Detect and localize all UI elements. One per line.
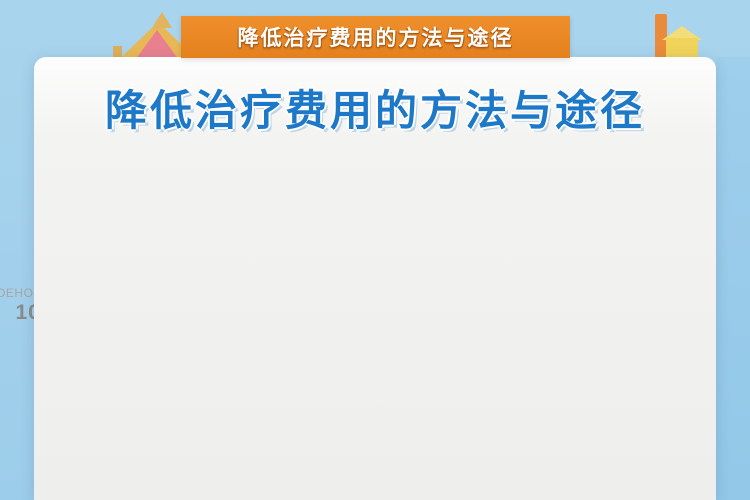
tent-flag-decor [135, 30, 179, 60]
infographic-stage: 降低治疗费用的方法与途径 降低治疗费用的方法与途径 优化治疗方案 优化治疗方案 … [0, 0, 750, 500]
content-card: 降低治疗费用的方法与途径 [34, 57, 716, 500]
right-background-strip [716, 57, 750, 500]
page-title: 降低治疗费用的方法与途径 [34, 77, 716, 138]
tent-top-decor [152, 12, 172, 28]
top-banner: 降低治疗费用的方法与途径 [181, 16, 570, 58]
banner-title: 降低治疗费用的方法与途径 [238, 22, 514, 52]
